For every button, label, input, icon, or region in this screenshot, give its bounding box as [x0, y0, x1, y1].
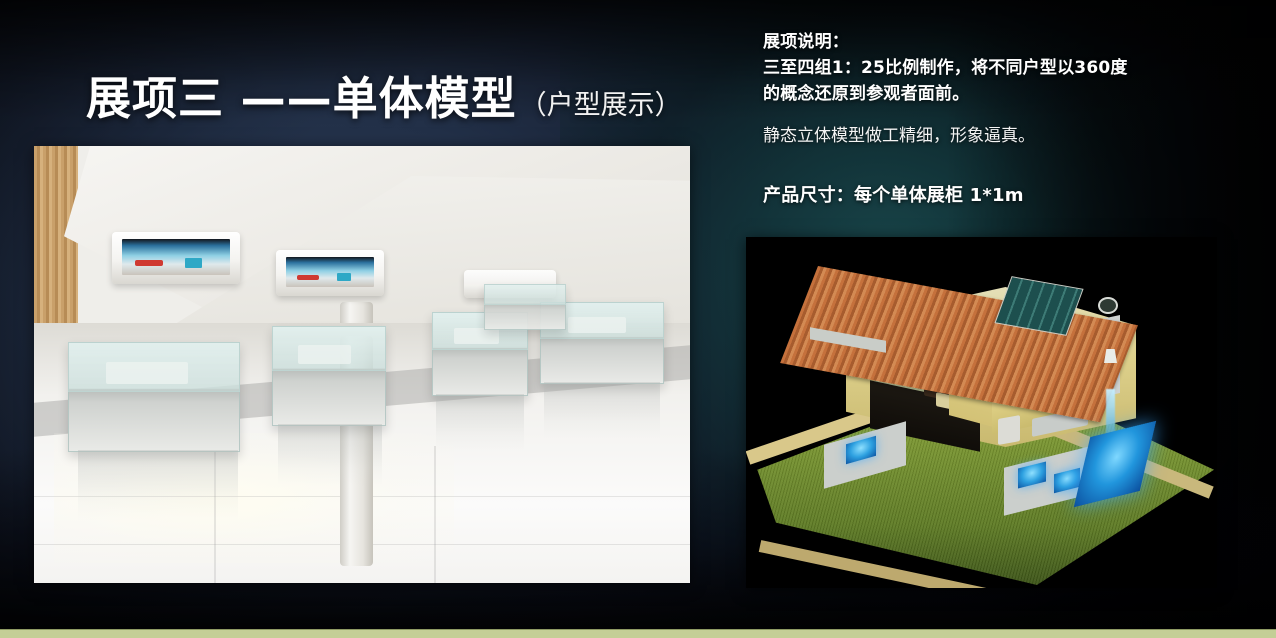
glass-display-case-5: [484, 284, 566, 330]
slide-root: 展项三 ——单体模型 （户型展示）: [0, 0, 1276, 638]
case-reflection-4: [544, 382, 660, 438]
exhibition-hall-image: [34, 146, 690, 583]
wall-display-box-1: [112, 232, 240, 284]
model-appliance: [998, 415, 1020, 445]
case-reflection-1: [78, 450, 238, 520]
hall-scene: [34, 146, 690, 583]
wall-display-box-2: [276, 250, 384, 296]
title-sub-text: （户型展示）: [520, 83, 682, 122]
screen-teal-element-1: [185, 258, 202, 267]
screen-red-element-1: [135, 260, 163, 266]
screen-teal-element-2: [337, 273, 351, 281]
description-block: 展项说明： 三至四组1：25比例制作，将不同户型以360度 的概念还原到参观者面…: [763, 30, 1213, 207]
screen-red-element-2: [297, 275, 320, 280]
case-model-3: [454, 328, 499, 344]
wall-display-screen-1: [122, 239, 230, 275]
description-heading-group: 展项说明： 三至四组1：25比例制作，将不同户型以360度 的概念还原到参观者面…: [763, 30, 1213, 107]
case-reflection-2: [278, 424, 382, 486]
glass-display-case-1: [68, 342, 240, 452]
case-glass-top-5: [484, 284, 566, 305]
wall-display-screen-2: [286, 257, 374, 287]
description-body: 静态立体模型做工精细，形象逼真。: [763, 124, 1213, 150]
house-model-image: [746, 237, 1217, 588]
slide-title: 展项三 ——单体模型 （户型展示）: [86, 62, 682, 127]
bottom-accent-bar: [0, 630, 1276, 638]
case-reflection-3: [436, 394, 524, 452]
case-model-1: [106, 362, 188, 384]
roof-vent-icon: [1098, 297, 1118, 314]
glass-display-case-2: [272, 326, 386, 426]
description-heading: 展项说明：: [763, 30, 1213, 56]
floor-joint-4: [434, 446, 436, 583]
title-main-text: 展项三 ——单体模型: [86, 62, 517, 127]
product-size-label: 产品尺寸：每个单体展柜 1*1m: [763, 181, 1213, 207]
case-model-4: [568, 317, 627, 333]
case-model-2: [298, 345, 352, 365]
description-line-1: 三至四组1：25比例制作，将不同户型以360度: [763, 56, 1213, 82]
description-line-2: 的概念还原到参观者面前。: [763, 82, 1213, 108]
